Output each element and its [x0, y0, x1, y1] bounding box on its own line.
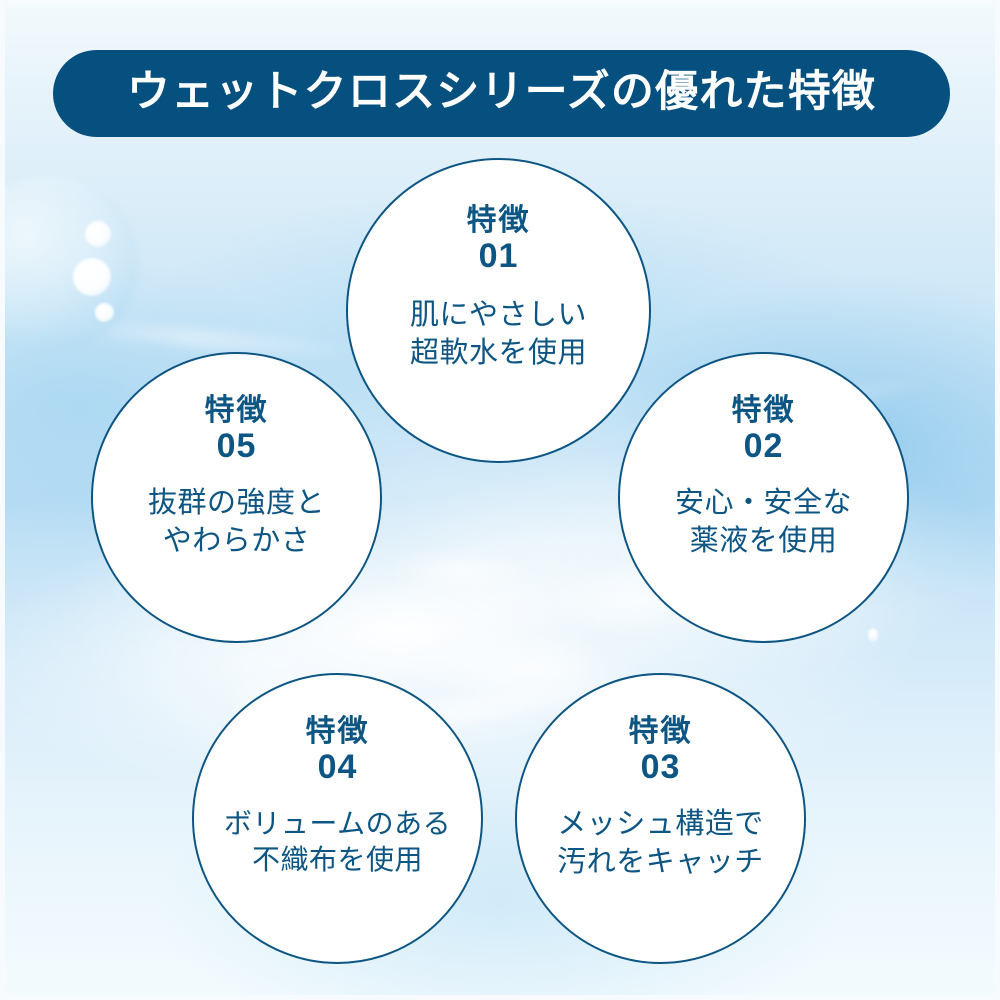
feature-number-04: 04 — [318, 749, 358, 786]
feature-number-03: 03 — [641, 749, 681, 786]
feature-poster: ウェットクロスシリーズの優れた特徴 特徴 01 肌にやさしい 超軟水を使用 特徴… — [0, 0, 1000, 1000]
feature-circle-01: 特徴 01 肌にやさしい 超軟水を使用 — [346, 158, 651, 463]
feature-body-02: 安心・安全な 薬液を使用 — [675, 485, 852, 560]
feature-label-03: 特徴 — [629, 715, 693, 749]
feature-body-01: 肌にやさしい 超軟水を使用 — [410, 297, 587, 372]
feature-circle-group: 特徴 01 肌にやさしい 超軟水を使用 特徴 02 安心・安全な 薬液を使用 特… — [0, 0, 1000, 1000]
feature-body-04: ボリュームのある 不織布を使用 — [224, 806, 451, 879]
feature-label-05: 特徴 — [205, 394, 269, 428]
feature-label-02: 特徴 — [732, 394, 796, 428]
feature-body-05: 抜群の強度と やわらかさ — [148, 485, 325, 560]
feature-number-02: 02 — [744, 428, 784, 465]
feature-circle-02: 特徴 02 安心・安全な 薬液を使用 — [618, 352, 909, 643]
feature-number-05: 05 — [217, 428, 257, 465]
feature-circle-05: 特徴 05 抜群の強度と やわらかさ — [91, 352, 382, 643]
feature-number-01: 01 — [479, 238, 519, 275]
feature-circle-03: 特徴 03 メッシュ構造で 汚れをキャッチ — [515, 673, 806, 964]
feature-label-01: 特徴 — [467, 204, 531, 238]
feature-label-04: 特徴 — [306, 715, 370, 749]
feature-body-03: メッシュ構造で 汚れをキャッチ — [557, 806, 764, 881]
feature-circle-04: 特徴 04 ボリュームのある 不織布を使用 — [192, 673, 483, 964]
